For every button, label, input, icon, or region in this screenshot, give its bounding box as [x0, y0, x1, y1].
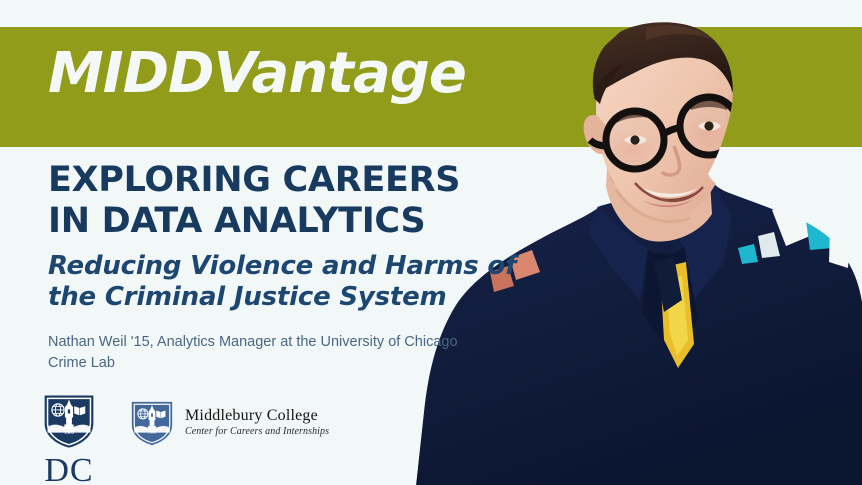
middlebury-college-logo: 1800 Middlebury College Center for Caree… [128, 399, 329, 447]
dc-logo: 1800 DC [38, 392, 100, 485]
promotional-slide: MIDDVantage [0, 0, 862, 485]
middlebury-department: Center for Careers and Internships [185, 427, 329, 438]
subhead-line-1: Reducing Violence and Harms of [48, 251, 516, 281]
page-title: EXPLORING CAREERS IN DATA ANALYTICS [48, 160, 568, 241]
middlebury-shield-icon: 1800 [40, 392, 98, 450]
middlebury-shield-icon: 1800 [128, 399, 176, 447]
middlebury-wordmark: Middlebury College Center for Careers an… [185, 408, 329, 437]
subhead-line-2: the Criminal Justice System [48, 282, 568, 313]
speaker-credit: Nathan Weil '15, Analytics Manager at th… [48, 332, 478, 374]
headline-block: EXPLORING CAREERS IN DATA ANALYTICS Redu… [48, 160, 568, 374]
dc-wordmark: DC [44, 454, 93, 485]
headline-line-1: EXPLORING CAREERS [48, 160, 460, 200]
middlebury-name: Middlebury College [185, 408, 329, 425]
logo-row: 1800 DC 1800 Middlebur [38, 392, 329, 485]
page-subtitle: Reducing Violence and Harms of the Crimi… [48, 251, 568, 313]
shield-year-middlebury: 1800 [148, 430, 157, 435]
headline-line-2: IN DATA ANALYTICS [48, 201, 568, 242]
brand-title: MIDDVantage [48, 46, 466, 102]
